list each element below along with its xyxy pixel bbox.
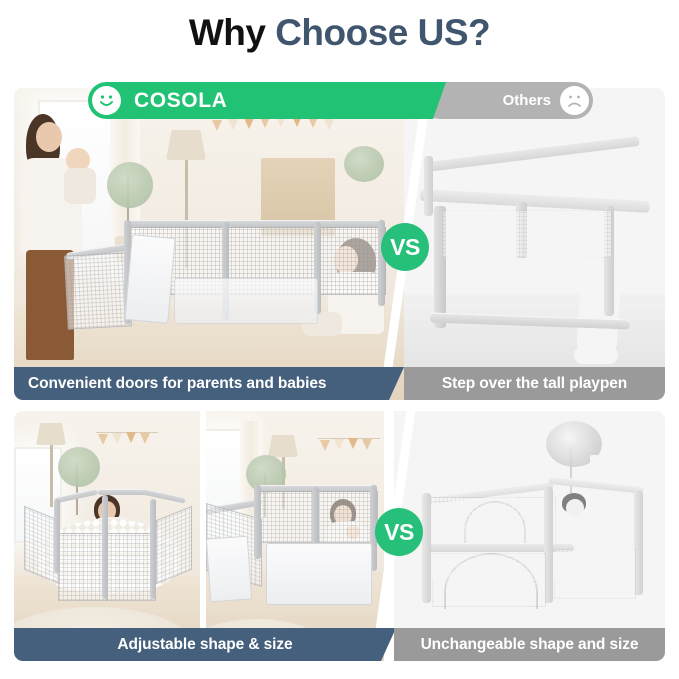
playpen-rail [54, 488, 98, 503]
playpen-post [54, 499, 60, 573]
ours-caption-text-top: Convenient doors for parents and babies [28, 375, 326, 393]
playpen-door-panel [206, 536, 252, 603]
vs-badge-bottom: VS [375, 508, 423, 556]
sad-face-icon [560, 86, 589, 115]
playpen-mesh-panel [442, 210, 612, 258]
page-title: Why Choose US? [0, 12, 679, 54]
bunting-flag [98, 434, 108, 445]
bunting-decoration [210, 116, 350, 136]
playpen-rail [142, 488, 186, 503]
lamp-shade [36, 423, 66, 445]
baby-body [64, 168, 96, 204]
room-scene-ours-rect [206, 411, 384, 661]
ours-caption-text-bottom: Adjustable shape & size [117, 636, 292, 654]
playpen-with-door [66, 220, 386, 348]
others-banner: Others [421, 82, 593, 119]
playpen-mesh-panel [58, 533, 108, 601]
bunting-flag [140, 433, 150, 444]
playpen-mesh-panel [64, 252, 132, 329]
lamp-shade [268, 435, 298, 457]
theirs-caption-bar-top: Step over the tall playpen [404, 367, 665, 400]
head [36, 122, 62, 152]
ours-photo-bottom-a [14, 411, 202, 661]
vs-label-top: VS [390, 234, 420, 261]
ours-caption-bar-top: Convenient doors for parents and babies [14, 367, 404, 400]
playpen-rail [548, 476, 644, 494]
theirs-photo-bottom: Unchangeable shape and size [394, 411, 665, 661]
bunting-flag [112, 433, 122, 444]
ours-caption-bar-bottom: Adjustable shape & size [14, 628, 396, 661]
tall-playpen [404, 140, 665, 340]
bunting-flag [334, 439, 344, 450]
cosola-banner: COSOLA [88, 82, 446, 119]
rectangular-playpen [206, 485, 384, 617]
playpen-mesh-panel [554, 549, 636, 599]
playpen-interior-mat [174, 278, 318, 324]
bunting-flag [244, 118, 254, 129]
baby-in-playpen [558, 493, 598, 527]
lamp-shade [166, 130, 206, 160]
bunting-flag [126, 432, 136, 443]
room-scene-ours-octagon [14, 411, 202, 661]
room-scene-theirs-bottom [394, 411, 665, 661]
bunting-flag [212, 120, 222, 131]
bunting-flag [348, 438, 358, 449]
theirs-caption-bar-bottom: Unchangeable shape and size [394, 628, 665, 661]
playpen-mesh-panel [156, 506, 192, 585]
playpen-mesh-panel [106, 533, 156, 601]
bunting-decoration [96, 431, 158, 447]
vs-badge-top: VS [381, 223, 429, 271]
theirs-photo-top: Step over the tall playpen [404, 88, 665, 400]
bunting-flag [362, 439, 372, 450]
bunting-flag [324, 119, 334, 130]
ours-photo-top: Convenient doors for parents and babies [14, 88, 404, 400]
square-playpen [412, 469, 652, 621]
bunting-decoration [318, 437, 380, 453]
playpen-top-rail [426, 135, 640, 172]
playpen-post [422, 493, 431, 603]
bunting-flag [228, 119, 238, 130]
hanging-plant [344, 146, 384, 182]
happy-face-icon [92, 86, 121, 115]
others-label: Others [503, 92, 551, 109]
brand-label: COSOLA [134, 89, 227, 113]
comparison-row-top: Convenient doors for parents and babies [14, 88, 665, 400]
wall-art [626, 415, 658, 443]
playpen-bottom-rail [430, 313, 630, 330]
playpen-post [150, 499, 156, 599]
photo-divider-bottom [200, 411, 206, 661]
playpen-rail [126, 220, 384, 227]
theirs-caption-text-bottom: Unchangeable shape and size [421, 636, 639, 654]
vs-label-bottom: VS [384, 519, 414, 546]
playpen-front-panel [266, 543, 372, 605]
brand-comparison-banner: Others COSOLA [88, 82, 593, 119]
page-title-part-1: Why [189, 12, 275, 53]
comparison-row-bottom: Adjustable shape & size [14, 411, 665, 661]
room-scene-ours-top [14, 88, 404, 400]
playpen-post [424, 156, 433, 216]
plant-foliage [58, 447, 100, 487]
playpen-door-panel [124, 234, 175, 324]
theirs-caption-text-top: Step over the tall playpen [442, 375, 627, 393]
room-scene-theirs-top [404, 88, 665, 400]
playpen-post [102, 495, 108, 599]
bunting-flag [320, 440, 330, 451]
octagon-playpen [20, 489, 196, 617]
page-title-part-2: Choose US? [275, 12, 490, 53]
baby-head [566, 499, 584, 517]
ours-photo-bottom-b [206, 411, 384, 661]
playpen-post [254, 485, 261, 559]
foot [574, 346, 618, 364]
